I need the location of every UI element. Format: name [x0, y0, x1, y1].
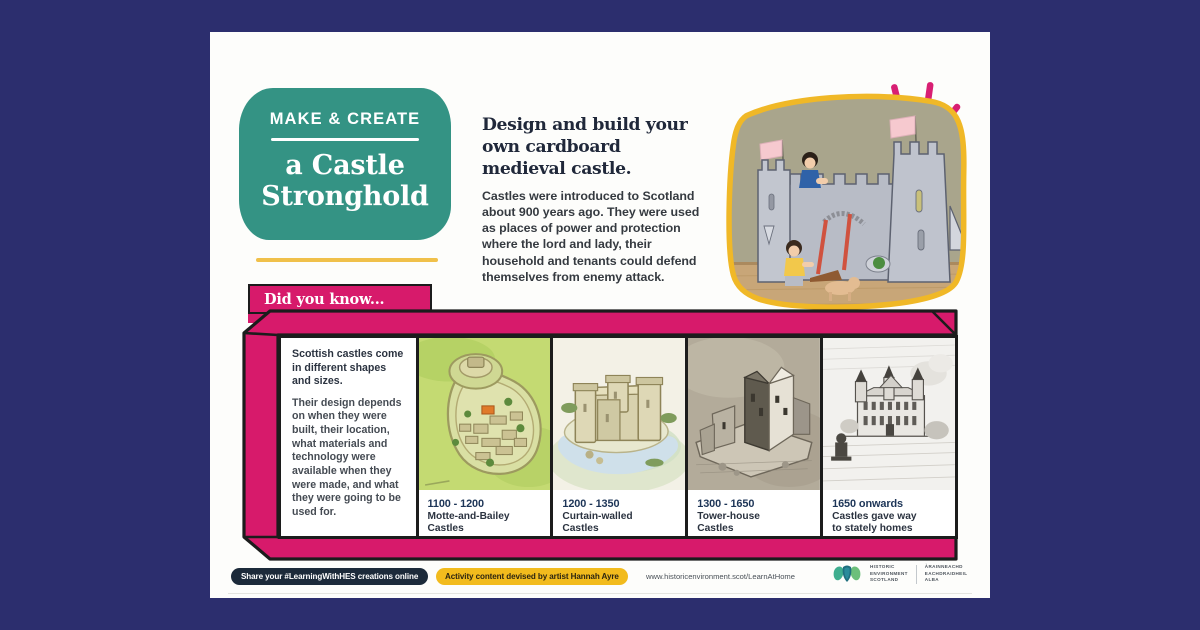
badge-title: a Castle Stronghold — [239, 150, 451, 213]
make-and-create-badge: MAKE & CREATE a Castle Stronghold — [239, 88, 451, 240]
badge-divider — [271, 138, 419, 141]
hes-logo-mark — [832, 563, 862, 585]
card-name-line-1: Curtain-walled — [562, 511, 685, 523]
credit-pill: Activity content devised by artist Hanna… — [436, 568, 628, 585]
badge-underline-rule — [256, 258, 438, 262]
stately-home-engraving — [823, 338, 955, 490]
photo-artwork — [718, 74, 980, 322]
badge-title-line-1: a Castle — [239, 150, 451, 181]
hes-logo: HISTORIC ENVIRONMENT SCOTLAND ÀRAINNEACH… — [832, 563, 967, 585]
hes-logo-english: HISTORIC ENVIRONMENT SCOTLAND — [870, 564, 908, 585]
curtain-walled-illustration — [553, 338, 685, 490]
cardboard-castle-photo — [718, 74, 980, 322]
card-name-line-1: Motte-and-Bailey — [428, 511, 551, 523]
castle-card: 1100 - 1200 Motte-and-Bailey Castles — [419, 338, 551, 536]
footer-divider — [228, 593, 972, 594]
did-you-know-label: Did you know... — [250, 286, 430, 308]
logo-divider — [916, 565, 917, 584]
info-panel-lead: Scottish castles come in different shape… — [292, 348, 407, 389]
footer-url[interactable]: www.historicenvironment.scot/LearnAtHome — [646, 572, 795, 581]
card-name-line-1: Castles gave way — [832, 511, 955, 523]
card-name-line-2: to stately homes — [832, 523, 955, 535]
credit-pill-label: Activity content devised by artist Hanna… — [445, 572, 619, 581]
castle-card: 1650 onwards Castles gave way to stately… — [823, 338, 955, 536]
motte-and-bailey-illustration — [419, 338, 551, 490]
castle-card: 1200 - 1350 Curtain-walled Castles — [553, 338, 685, 536]
footer: Share your #LearningWithHES creations on… — [210, 560, 990, 598]
badge-kicker: MAKE & CREATE — [239, 110, 451, 129]
card-name-line-2: Castles — [562, 523, 685, 535]
card-name-line-2: Castles — [428, 523, 551, 535]
castle-card: 1300 - 1650 Tower-house Castles — [688, 338, 820, 536]
share-pill-label: Share your #LearningWithHES creations on… — [241, 572, 418, 581]
info-panel-body: Their design depends on when they were b… — [292, 397, 407, 520]
activity-sheet: MAKE & CREATE a Castle Stronghold Design… — [210, 32, 990, 598]
castle-panels: Scottish castles come in different shape… — [278, 335, 958, 539]
share-pill[interactable]: Share your #LearningWithHES creations on… — [231, 568, 428, 585]
card-years: 1200 - 1350 — [562, 498, 685, 510]
card-years: 1300 - 1650 — [697, 498, 820, 510]
intro-paragraph: Castles were introduced to Scotland abou… — [482, 188, 707, 286]
page-headline: Design and build your own cardboard medi… — [482, 114, 707, 181]
info-panel: Scottish castles come in different shape… — [281, 338, 416, 536]
badge-title-line-2: Stronghold — [239, 181, 451, 212]
hes-logo-text: HISTORIC ENVIRONMENT SCOTLAND ÀRAINNEACH… — [870, 564, 967, 585]
tower-house-illustration — [688, 338, 820, 490]
intro-block: Design and build your own cardboard medi… — [482, 114, 707, 285]
card-name-line-2: Castles — [697, 523, 820, 535]
did-you-know-box: Scottish castles come in different shape… — [242, 309, 958, 562]
card-years: 1650 onwards — [832, 498, 955, 510]
card-years: 1100 - 1200 — [428, 498, 551, 510]
hes-logo-gaelic: ÀRAINNEACHD EACHDRAIDHEIL ALBA — [925, 564, 968, 585]
card-name-line-1: Tower-house — [697, 511, 820, 523]
